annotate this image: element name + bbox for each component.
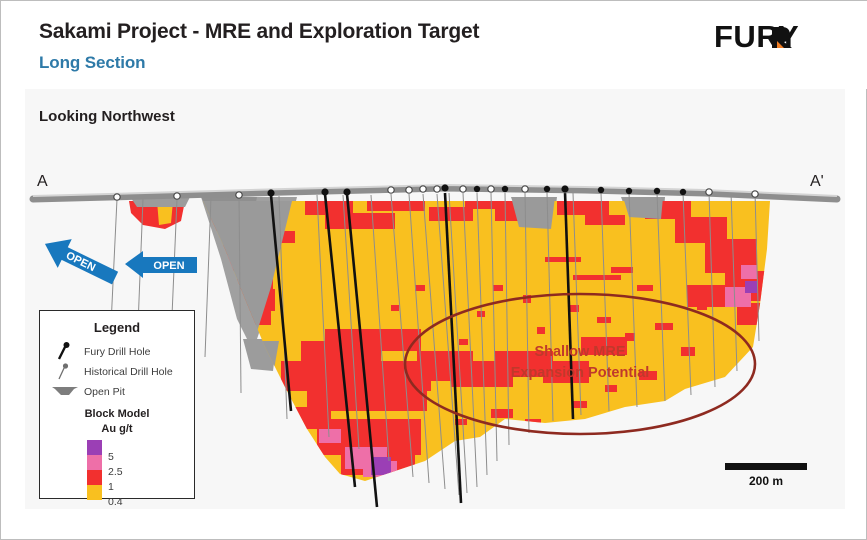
page-subtitle: Long Section [39,53,145,73]
ramp-label-1: 1 [108,481,114,493]
legend-label-fury-drill-hole: Fury Drill Hole [84,346,151,358]
block-model-units: Au g/t [40,423,194,435]
open-arrow-west-horizontal: OPEN [123,249,199,279]
scale-bar-line [725,463,807,470]
block-model-title: Block Model [40,408,194,420]
legend-label-historical-drill-hole: Historical Drill Hole [84,366,173,378]
expansion-target-line2: Expansion Potential [480,363,680,384]
slide: Sakami Project - MRE and Exploration Tar… [1,1,866,539]
scale-bar: 200 m [725,463,807,488]
legend-title: Legend [40,320,194,335]
expansion-target-line1: Shallow MRE [480,342,680,363]
isolated-block-model-west [129,195,191,229]
ramp-label-5: 5 [108,451,114,463]
fury-logo: FURY [714,19,834,55]
open-arrow-angled-label: OPEN [64,250,97,274]
open-arrow-angled-icon: OPEN [37,235,123,287]
ramp-swatch-5 [87,440,102,455]
section-panel: Looking Northwest A A' [25,89,845,509]
page-title: Sakami Project - MRE and Exploration Tar… [39,20,479,44]
scale-bar-label: 200 m [725,474,807,488]
ramp-label-0-4: 0.4 [108,496,123,508]
ramp-label-2-5: 2.5 [108,466,123,478]
fury-drill-hole-icon [50,342,80,360]
ramp-swatch-0-4 [87,485,102,500]
expansion-target-label: Shallow MRE Expansion Potential [480,342,680,384]
open-pit-icon [50,382,80,400]
header: Sakami Project - MRE and Exploration Tar… [1,1,867,89]
ramp-swatch-2-5 [87,455,102,470]
open-arrow-horizontal-icon: OPEN [123,249,199,279]
ramp-swatch-1 [87,470,102,485]
legend-label-open-pit: Open Pit [84,386,125,398]
open-arrow-west-angled: OPEN [37,235,123,287]
legend-box: Legend Fury Drill Hole Historical Drill … [39,310,195,499]
grade-color-ramp [87,440,102,500]
historical-drill-hole-icon [50,362,80,380]
open-arrow-horizontal-label: OPEN [153,260,184,272]
